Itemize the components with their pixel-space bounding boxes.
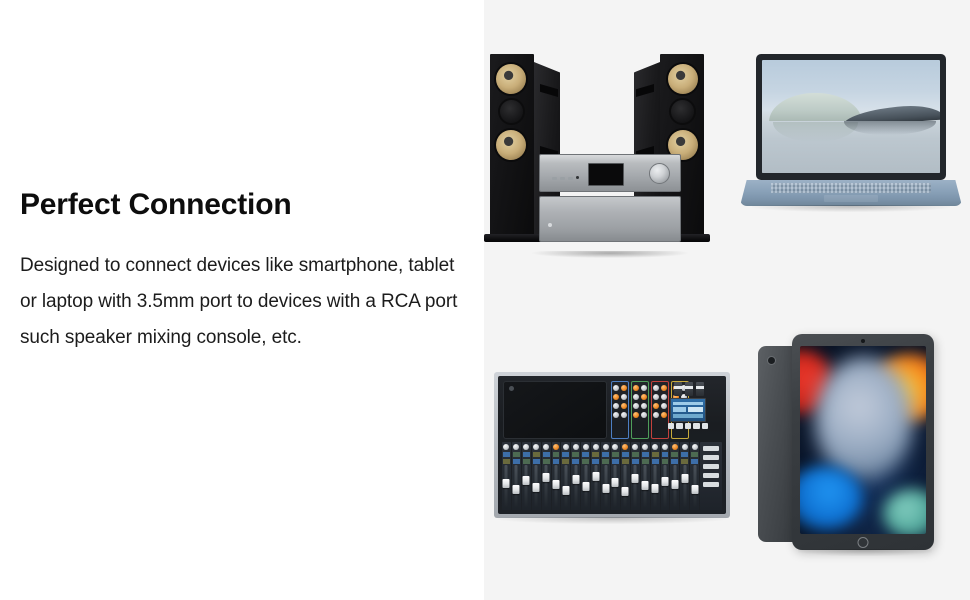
- wallpaper-water: [762, 121, 940, 173]
- amplifier-indicator-led: [576, 176, 579, 179]
- tablet-shadow: [798, 549, 932, 556]
- page-title: Perfect Connection: [20, 188, 475, 222]
- channel-fader-cap: [602, 484, 609, 493]
- channel-label-strip: [503, 452, 510, 457]
- channel-label-strip: [612, 452, 619, 457]
- mixer-mini-sliders: [674, 382, 704, 396]
- knob-group-blue: [611, 381, 629, 439]
- amplifier-display: [588, 163, 624, 186]
- channel-label-strip: [681, 459, 688, 464]
- channel-fader-track: [683, 465, 686, 507]
- channel-label-strip: [543, 459, 550, 464]
- channel-gain-knob: [622, 444, 628, 450]
- mixer-blank-panel: [503, 381, 607, 439]
- laptop-shadow: [752, 205, 950, 212]
- description-text: Designed to connect devices like smartph…: [20, 248, 475, 356]
- channel-fader-cap: [642, 481, 649, 490]
- channel-gain-knob: [553, 444, 559, 450]
- channel-label-strip: [582, 459, 589, 464]
- channel-gain-knob: [603, 444, 609, 450]
- channel-label-strip: [562, 452, 569, 457]
- channel-fader-cap: [503, 479, 510, 488]
- channel-label-strip: [533, 459, 540, 464]
- speaker-system-shadow: [532, 251, 688, 258]
- channel-gain-knob: [563, 444, 569, 450]
- speaker-left: [490, 54, 540, 236]
- text-pane: Perfect Connection Designed to connect d…: [0, 0, 484, 600]
- mixer-channel-strip: [552, 442, 561, 510]
- mixer-shadow: [498, 517, 726, 524]
- channel-label-strip: [632, 459, 639, 464]
- power-amplifier: [539, 196, 681, 242]
- channel-label-strip: [691, 452, 698, 457]
- channel-fader-track: [634, 465, 637, 507]
- master-button: [703, 446, 719, 451]
- mixer-channel-strip: [512, 442, 521, 510]
- amplifier-stack: [539, 154, 681, 242]
- channel-label-strip: [642, 452, 649, 457]
- channel-label-strip: [652, 459, 659, 464]
- text-block: Perfect Connection Designed to connect d…: [20, 188, 475, 356]
- channel-gain-knob: [692, 444, 698, 450]
- knob-group-green: [631, 381, 649, 439]
- mixer-channel-strip: [571, 442, 580, 510]
- channel-label-strip: [662, 459, 669, 464]
- channel-gain-knob: [583, 444, 589, 450]
- woofer-driver: [496, 130, 526, 160]
- wallpaper-blob-teal: [883, 489, 926, 534]
- mixer-channel-strip: [502, 442, 511, 510]
- channel-gain-knob: [662, 444, 668, 450]
- channel-gain-knob: [612, 444, 618, 450]
- tweeter-driver: [496, 64, 526, 94]
- channel-fader-track: [574, 465, 577, 507]
- laptop-image: [734, 44, 970, 244]
- volume-knob: [649, 163, 670, 184]
- channel-label-strip: [553, 452, 560, 457]
- mixer-lcd-display: [670, 398, 706, 422]
- mixer-channel-strip: [661, 442, 670, 510]
- channel-gain-knob: [593, 444, 599, 450]
- channel-label-strip: [513, 459, 520, 464]
- channel-label-strip: [622, 452, 629, 457]
- channel-label-strip: [523, 459, 530, 464]
- mixer-channel-strip: [641, 442, 650, 510]
- home-button-icon: [858, 537, 869, 548]
- mixer-button-row: [668, 423, 708, 429]
- wallpaper-ridge-reflection: [844, 121, 937, 135]
- front-camera-icon: [861, 339, 865, 343]
- laptop-trackpad: [824, 195, 877, 203]
- laptop-keyboard-deck: [740, 180, 962, 206]
- channel-label-strip: [681, 452, 688, 457]
- mixer-channel-strip: [542, 442, 551, 510]
- midrange-driver: [500, 100, 523, 123]
- mixer-channel-strip: [621, 442, 630, 510]
- wallpaper-hill: [769, 93, 862, 122]
- channel-gain-knob: [543, 444, 549, 450]
- channel-fader-cap: [661, 477, 668, 486]
- channel-fader-cap: [552, 480, 559, 489]
- mixer-master-section: [700, 442, 722, 510]
- grille-chevron-icon: [636, 84, 654, 97]
- mixer-control-surface: [498, 376, 726, 514]
- channel-label-strip: [671, 452, 678, 457]
- channel-label-strip: [691, 459, 698, 464]
- channel-gain-knob: [513, 444, 519, 450]
- laptop-keyboard: [771, 183, 931, 193]
- midrange-driver: [671, 100, 694, 123]
- channel-fader-cap: [533, 483, 540, 492]
- laptop-lid: [756, 54, 946, 180]
- channel-label-strip: [642, 459, 649, 464]
- channel-fader-cap: [513, 485, 520, 494]
- channel-label-strip: [602, 459, 609, 464]
- channel-label-strip: [622, 459, 629, 464]
- channel-gain-knob: [652, 444, 658, 450]
- wallpaper-blob-blue: [800, 466, 863, 530]
- mixer-channel-strip: [651, 442, 660, 510]
- channel-fader-track: [545, 465, 548, 507]
- master-button: [703, 455, 719, 460]
- channel-fader-track: [525, 465, 528, 507]
- channel-gain-knob: [632, 444, 638, 450]
- channel-label-strip: [503, 459, 510, 464]
- grille-chevron-icon: [540, 84, 558, 97]
- channel-fader-cap: [691, 485, 698, 494]
- knob-group-red: [651, 381, 669, 439]
- channel-label-strip: [582, 452, 589, 457]
- channel-label-strip: [543, 452, 550, 457]
- channel-label-strip: [662, 452, 669, 457]
- channel-label-strip: [671, 459, 678, 464]
- channel-label-strip: [592, 459, 599, 464]
- channel-gain-knob: [573, 444, 579, 450]
- mixer-channel-strip: [631, 442, 640, 510]
- mixer-channel-strip: [680, 442, 689, 510]
- mixer-channel-strip: [670, 442, 679, 510]
- channel-label-strip: [572, 459, 579, 464]
- channel-label-strip: [632, 452, 639, 457]
- wallpaper-blob-grayblue: [815, 357, 913, 481]
- channel-label-strip: [652, 452, 659, 457]
- laptop-screen: [762, 60, 940, 173]
- mixer-channel-strip: [532, 442, 541, 510]
- channel-fader-track: [663, 465, 666, 507]
- mixer-channel-strips: [502, 442, 722, 510]
- channel-label-strip: [562, 459, 569, 464]
- channel-label-strip: [523, 452, 530, 457]
- channel-gain-knob: [682, 444, 688, 450]
- channel-fader-cap: [681, 474, 688, 483]
- channel-gain-knob: [503, 444, 509, 450]
- channel-fader-cap: [671, 480, 678, 489]
- channel-label-strip: [533, 452, 540, 457]
- tablet-image: [752, 334, 970, 562]
- mixer-channel-strip: [690, 442, 699, 510]
- master-button: [703, 482, 719, 487]
- amplifier-receiver: [539, 154, 681, 192]
- tweeter-driver: [668, 64, 698, 94]
- channel-label-strip: [602, 452, 609, 457]
- mixer-channel-strip: [601, 442, 610, 510]
- speaker-left-baffle: [490, 54, 534, 236]
- channel-fader-track: [624, 465, 627, 507]
- channel-label-strip: [553, 459, 560, 464]
- channel-gain-knob: [672, 444, 678, 450]
- channel-label-strip: [612, 459, 619, 464]
- channel-label-strip: [572, 452, 579, 457]
- channel-label-strip: [513, 452, 520, 457]
- mixer-channel-strip: [522, 442, 531, 510]
- channel-fader-cap: [572, 475, 579, 484]
- channel-fader-cap: [562, 486, 569, 495]
- product-feature-banner: Perfect Connection Designed to connect d…: [0, 0, 970, 600]
- product-image-pane: [484, 0, 970, 600]
- channel-fader-cap: [652, 484, 659, 493]
- channel-fader-cap: [582, 482, 589, 491]
- mixing-console-image: [488, 368, 736, 528]
- channel-fader-cap: [543, 473, 550, 482]
- channel-fader-cap: [523, 476, 530, 485]
- mixer-chassis: [494, 372, 730, 518]
- mixer-channel-strip: [591, 442, 600, 510]
- tablet-front-view: [792, 334, 934, 550]
- channel-fader-cap: [632, 474, 639, 483]
- channel-gain-knob: [642, 444, 648, 450]
- speaker-system-image: [484, 24, 734, 250]
- mixer-channel-strip: [611, 442, 620, 510]
- amplifier-buttons: [552, 177, 573, 180]
- mixer-channel-strip: [561, 442, 570, 510]
- channel-fader-cap: [592, 472, 599, 481]
- channel-fader-cap: [622, 487, 629, 496]
- master-button: [703, 473, 719, 478]
- channel-fader-cap: [612, 478, 619, 487]
- channel-gain-knob: [523, 444, 529, 450]
- speaker-left-plinth: [484, 234, 546, 242]
- master-button: [703, 464, 719, 469]
- channel-gain-knob: [533, 444, 539, 450]
- tablet-screen: [800, 346, 926, 534]
- channel-label-strip: [592, 452, 599, 457]
- mixer-channel-strip: [581, 442, 590, 510]
